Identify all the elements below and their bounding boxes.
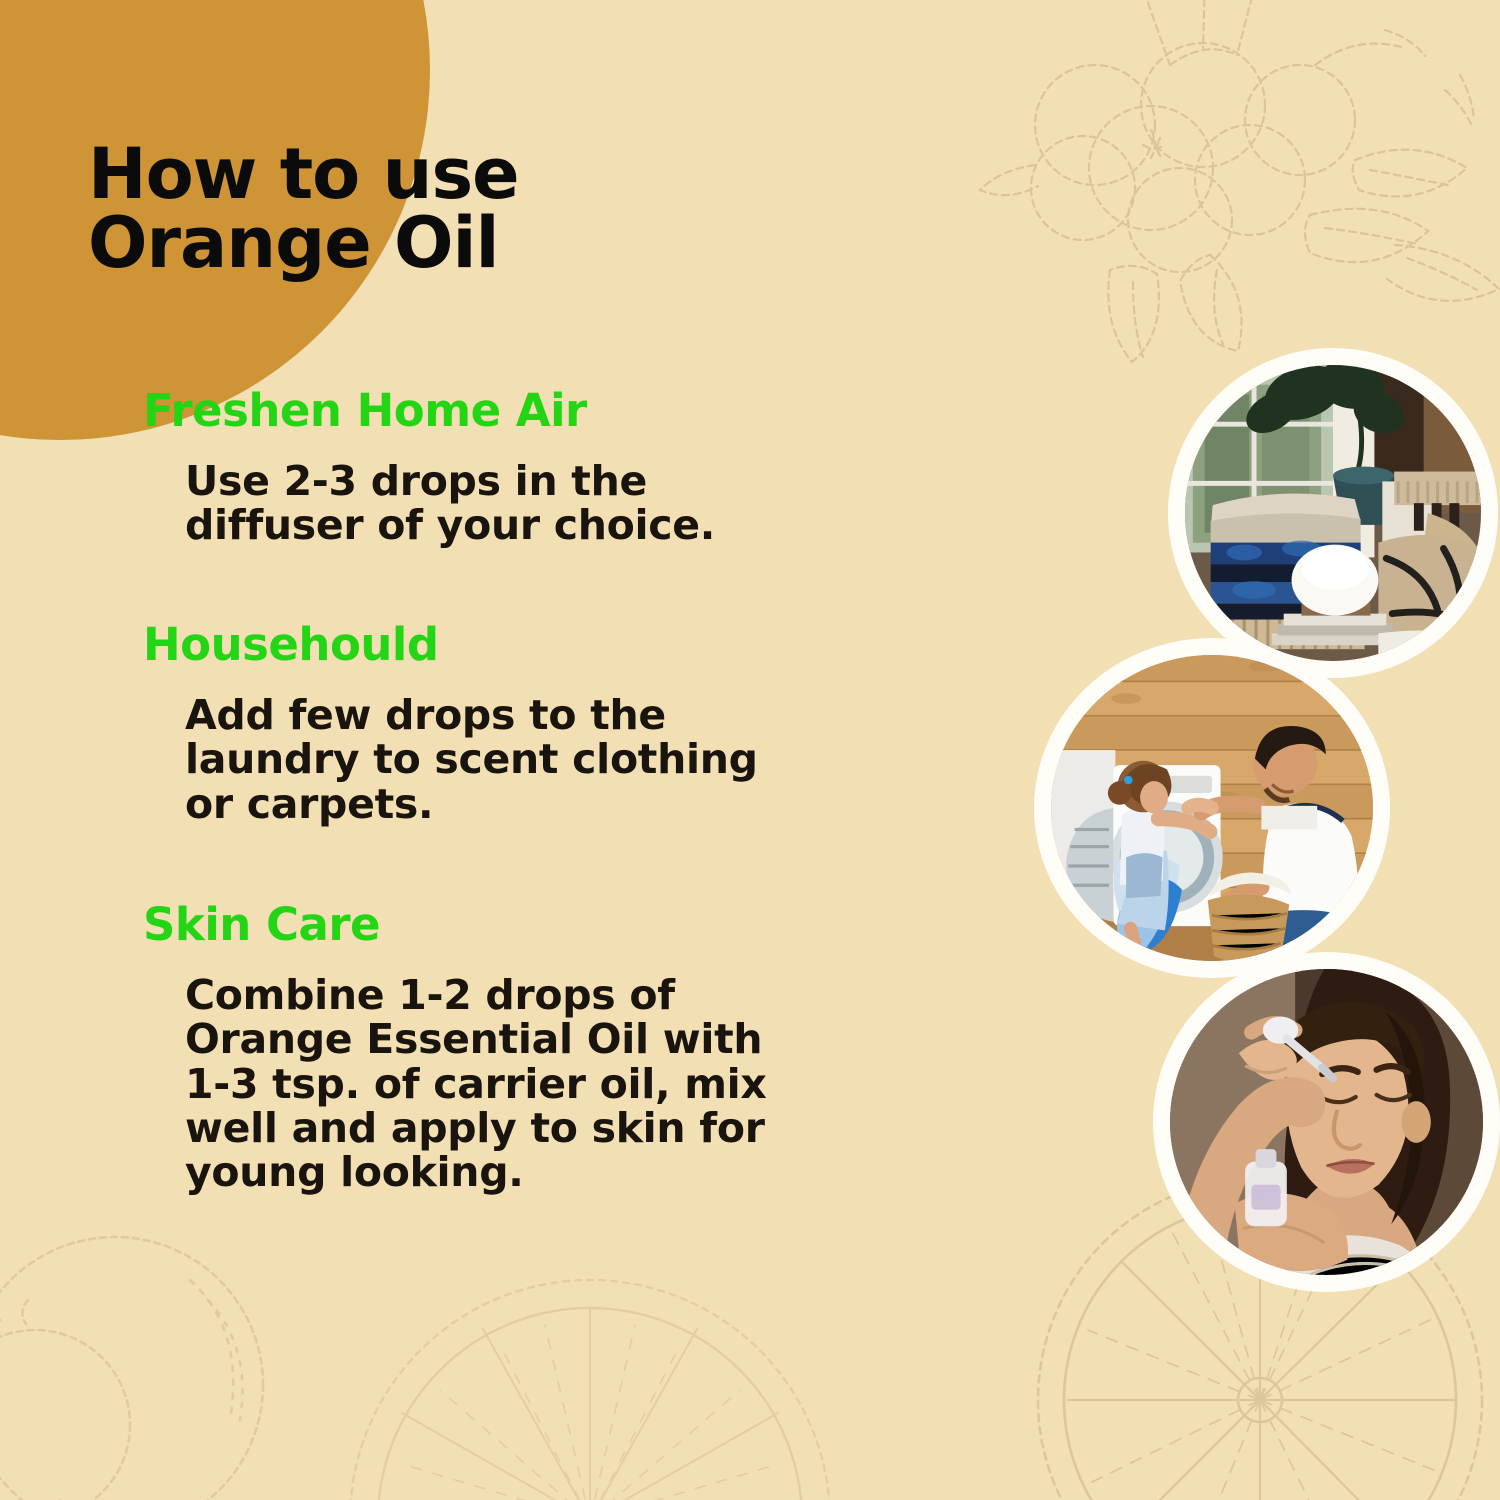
photo-image xyxy=(1185,365,1481,661)
section-body: Combine 1-2 drops of Orange Essential Oi… xyxy=(143,973,863,1194)
section-heading: Freshen Home Air xyxy=(143,388,863,433)
photo-diffuser-living-room xyxy=(1168,348,1498,678)
page-title: How to use Orange Oil xyxy=(88,140,728,277)
section-heading: Househould xyxy=(143,622,863,667)
photo-image xyxy=(1170,969,1483,1275)
section-body: Add few drops to the laundry to scent cl… xyxy=(143,693,863,826)
section-heading: Skin Care xyxy=(143,902,863,947)
photo-skin-care-woman xyxy=(1153,952,1500,1292)
orange-branch-sketch-icon xyxy=(955,0,1500,400)
section-household: Househould Add few drops to the laundry … xyxy=(143,622,863,826)
content-column: How to use Orange Oil Freshen Home Air U… xyxy=(0,0,880,1500)
orange-oil-usage-infographic: How to use Orange Oil Freshen Home Air U… xyxy=(0,0,1500,1500)
photo-image xyxy=(1051,655,1373,961)
photo-laundry-family xyxy=(1034,638,1390,978)
section-body: Use 2-3 drops in the diffuser of your ch… xyxy=(143,459,863,548)
section-freshen-home-air: Freshen Home Air Use 2-3 drops in the di… xyxy=(143,388,863,548)
section-skin-care: Skin Care Combine 1-2 drops of Orange Es… xyxy=(143,902,863,1194)
